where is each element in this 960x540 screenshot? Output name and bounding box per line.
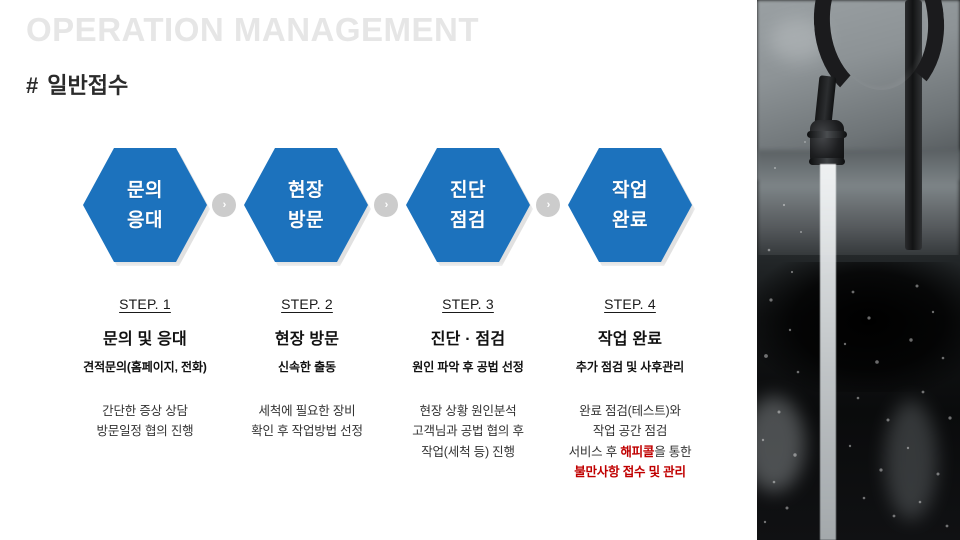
- step-descriptions: STEP. 1 문의 및 응대 견적문의(홈페이지, 전화) 간단한 증상 상담…: [0, 296, 757, 506]
- flow-node-line2: 방문: [288, 211, 324, 230]
- step-body: 완료 점검(테스트)와 작업 공간 점검 서비스 후 해피콜을 통한 불만사항 …: [530, 401, 730, 482]
- page-title: #일반접수: [26, 68, 128, 100]
- section-title-text: 일반접수: [47, 73, 128, 98]
- highlighted-term: 해피콜: [620, 445, 654, 459]
- step-number: STEP. 2: [281, 296, 333, 312]
- flow-node-line2: 점검: [450, 211, 486, 230]
- faucet-photo: [757, 0, 960, 540]
- slide-root: OPERATION MANAGEMENT #일반접수 문의 응대 › 현장 방문…: [0, 0, 960, 540]
- flow-node-2[interactable]: 현장 방문: [244, 148, 368, 262]
- step-subheading: 추가 점검 및 사후관리: [530, 358, 730, 375]
- flow-node-line2: 응대: [127, 211, 163, 230]
- step-number: STEP. 3: [442, 296, 494, 312]
- water-droplets: [757, 0, 960, 540]
- step-heading: 작업 완료: [530, 325, 730, 349]
- step-body-line: 완료 점검(테스트)와: [530, 401, 730, 421]
- step-number: STEP. 4: [604, 296, 656, 312]
- step-body-line: 작업 공간 점검: [530, 421, 730, 441]
- flow-node-line1: 진단: [450, 181, 486, 200]
- chevron-right-icon: ›: [212, 193, 236, 217]
- flow-node-line1: 작업: [612, 181, 648, 200]
- flow-node-4[interactable]: 작업 완료: [568, 148, 692, 262]
- flow-node-line1: 현장: [288, 181, 324, 200]
- flow-node-3[interactable]: 진단 점검: [406, 148, 530, 262]
- line-pre: 서비스 후: [569, 445, 621, 459]
- process-flow: 문의 응대 › 현장 방문 › 진단 점검 ›: [0, 148, 757, 268]
- deck-title: OPERATION MANAGEMENT: [26, 11, 479, 49]
- step-column-4: STEP. 4 작업 완료 추가 점검 및 사후관리 완료 점검(테스트)와 작…: [530, 296, 730, 482]
- flow-node-1[interactable]: 문의 응대: [83, 148, 207, 262]
- step-body-line-mixed: 서비스 후 해피콜을 통한: [530, 442, 730, 462]
- step-number: STEP. 1: [119, 296, 171, 312]
- chevron-right-icon: ›: [374, 193, 398, 217]
- step-body-line-accent: 불만사항 접수 및 관리: [530, 462, 730, 482]
- chevron-glyph: ›: [385, 200, 389, 211]
- chevron-glyph: ›: [547, 200, 551, 211]
- hash-marker: #: [26, 73, 38, 98]
- flow-node-line2: 완료: [612, 211, 648, 230]
- chevron-glyph: ›: [223, 200, 227, 211]
- line-post: 을 통한: [654, 445, 691, 459]
- flow-node-line1: 문의: [127, 181, 163, 200]
- chevron-right-icon: ›: [536, 193, 560, 217]
